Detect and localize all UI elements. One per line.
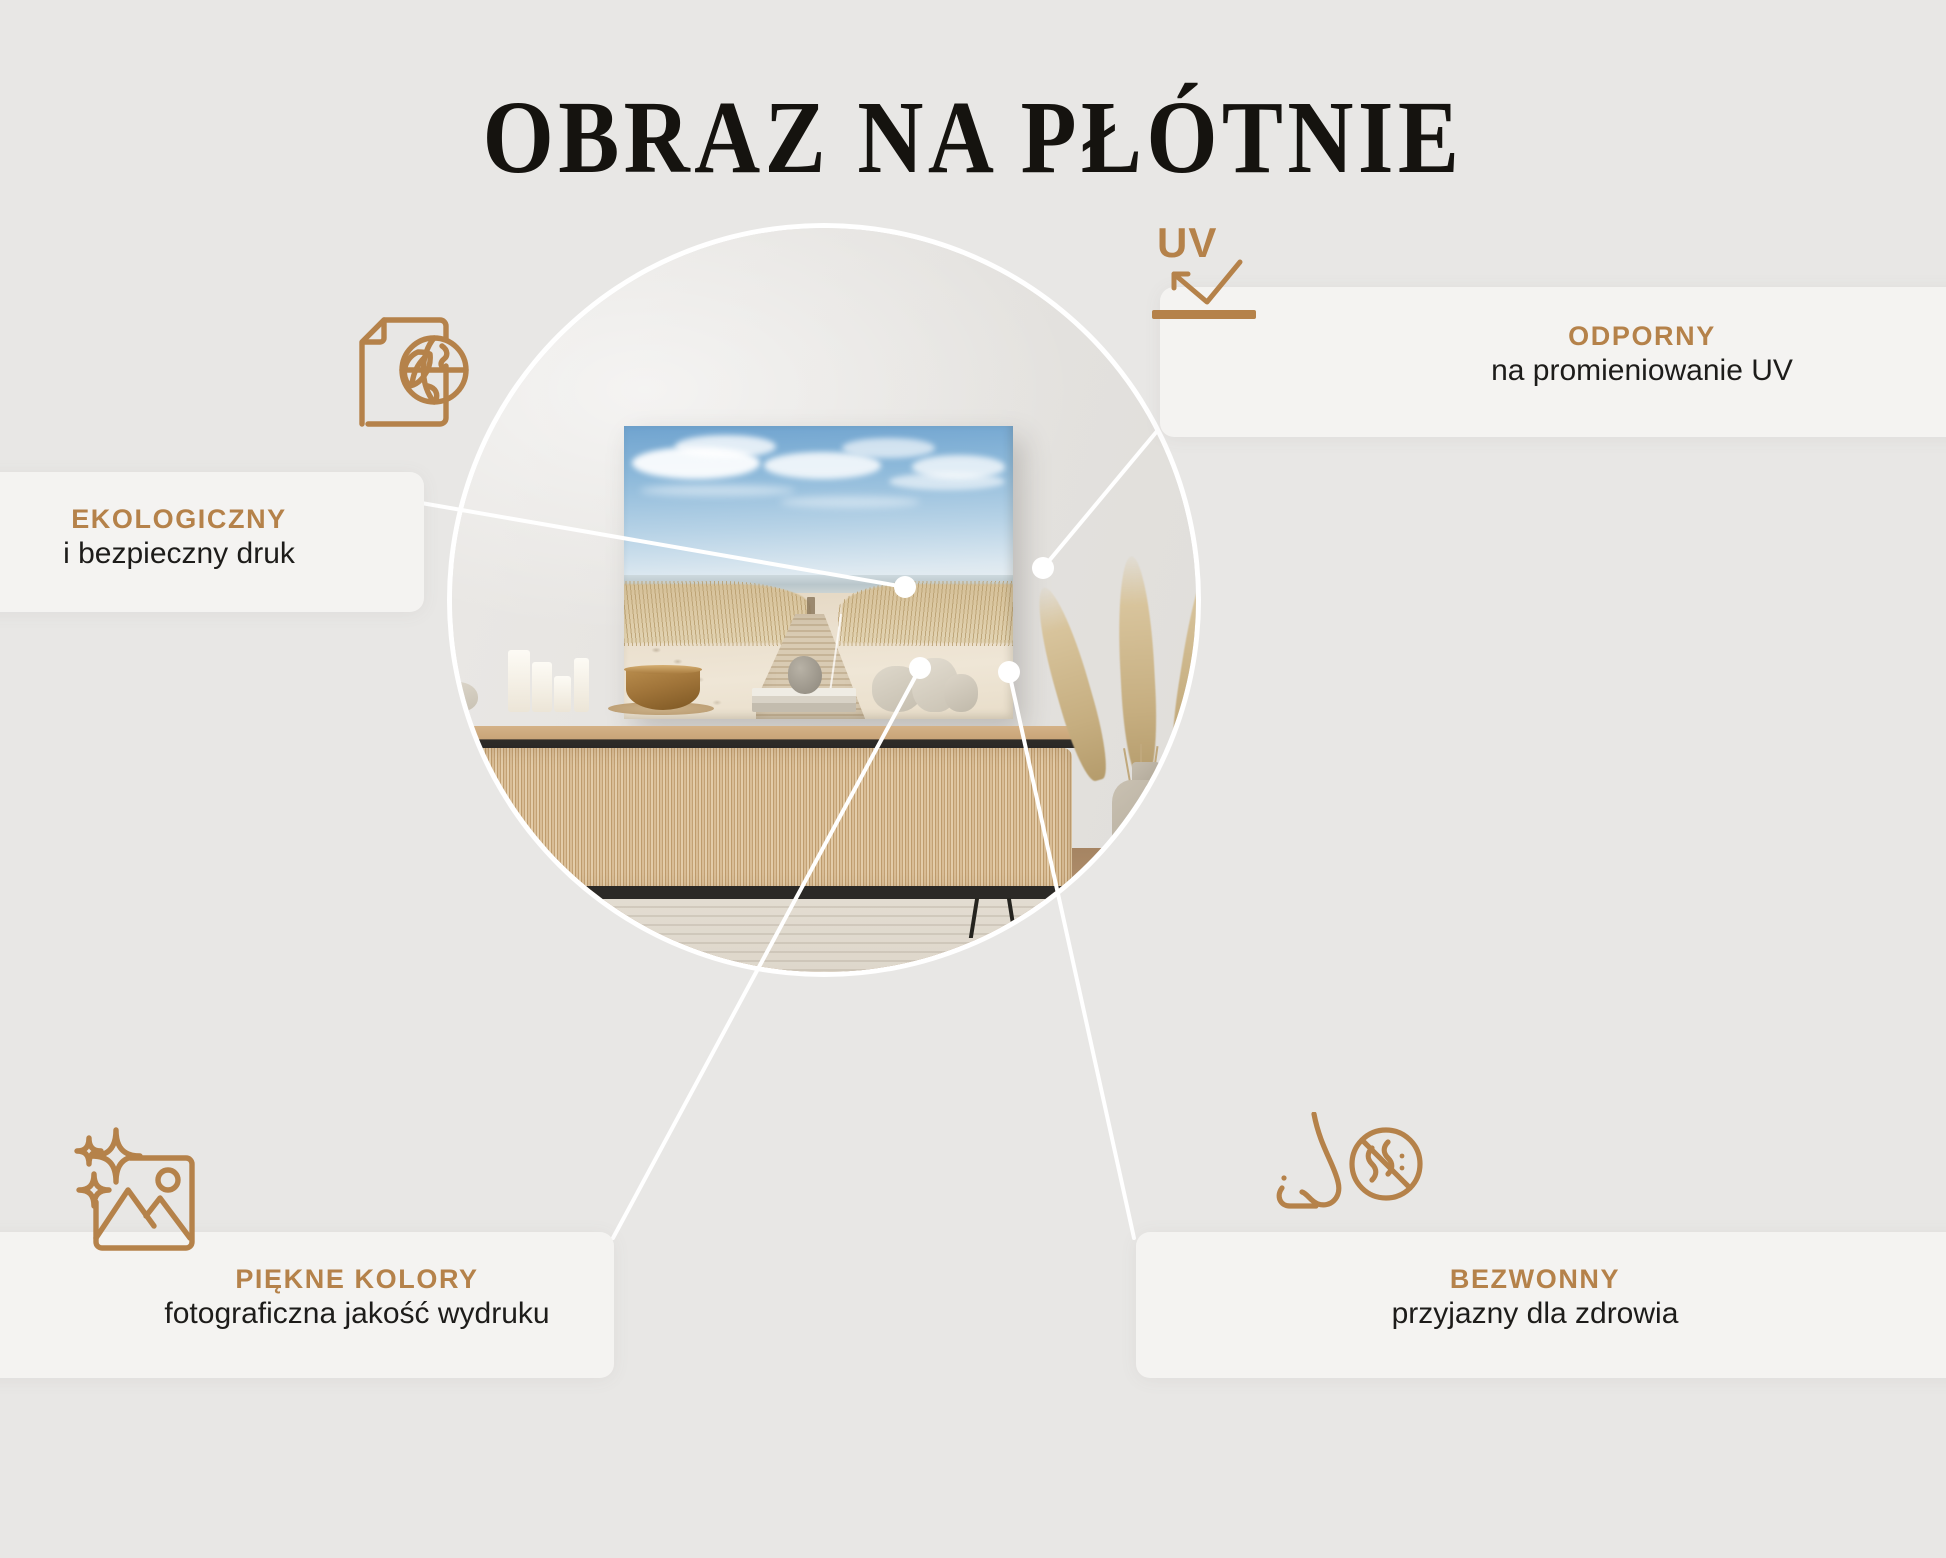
nose-no-smell-icon <box>1276 1112 1436 1248</box>
feature-card-eco[interactable]: EKOLOGICZNY i bezpieczny druk <box>0 472 424 612</box>
infographic-canvas: OBRAZ NA PŁÓTNIE <box>0 0 1946 1558</box>
pillar-candle <box>574 658 589 712</box>
feature-sub: i bezpieczny druk <box>14 536 344 572</box>
feature-card-eco-text: EKOLOGICZNY i bezpieczny druk <box>14 504 344 572</box>
feature-card-uv-text: ODPORNY na promieniowanie UV <box>1346 321 1938 389</box>
room-scene <box>452 228 1196 972</box>
uv-ray-shield-icon <box>1144 218 1274 328</box>
photo-sparkle-icon <box>54 1118 234 1268</box>
feature-card-odor[interactable]: BEZWONNY przyjazny dla zdrowia <box>1136 1232 1946 1378</box>
feature-kicker: EKOLOGICZNY <box>14 504 344 536</box>
sideboard-leg <box>1007 898 1017 938</box>
page-title: OBRAZ NA PŁÓTNIE <box>117 78 1829 197</box>
feature-sub: fotograficzna jakość wydruku <box>124 1296 590 1332</box>
sideboard-fluted-front <box>452 748 1072 892</box>
brass-bowl-rim <box>624 665 702 674</box>
feature-sub: na promieniowanie UV <box>1346 353 1938 389</box>
feature-kicker: PIĘKNE KOLORY <box>124 1264 590 1296</box>
feature-card-colors-text: PIĘKNE KOLORY fotograficzna jakość wydru… <box>124 1264 590 1332</box>
sideboard-top <box>452 726 1078 748</box>
pillar-candle <box>508 650 530 712</box>
feature-kicker: ODPORNY <box>1346 321 1938 353</box>
feature-card-odor-text: BEZWONNY przyjazny dla zdrowia <box>1244 1264 1826 1332</box>
sideboard-leg <box>969 898 979 938</box>
feature-sub: przyjazny dla zdrowia <box>1244 1296 1826 1332</box>
sideboard <box>452 726 1078 936</box>
pillar-candle <box>532 662 552 712</box>
feature-kicker: BEZWONNY <box>1244 1264 1826 1296</box>
brass-bowl <box>626 668 700 710</box>
sideboard-leg <box>483 898 493 938</box>
stone-sphere <box>788 656 822 694</box>
document-leaf-globe-icon <box>332 308 482 440</box>
pillar-candle <box>554 676 571 712</box>
floor-vase <box>1112 780 1180 920</box>
ceramic-pot <box>944 674 978 712</box>
sideboard-leg <box>521 898 531 938</box>
room-scene-circle <box>452 228 1196 972</box>
sideboard-base <box>452 886 1075 899</box>
feature-card-uv[interactable]: ODPORNY na promieniowanie UV <box>1160 287 1946 437</box>
